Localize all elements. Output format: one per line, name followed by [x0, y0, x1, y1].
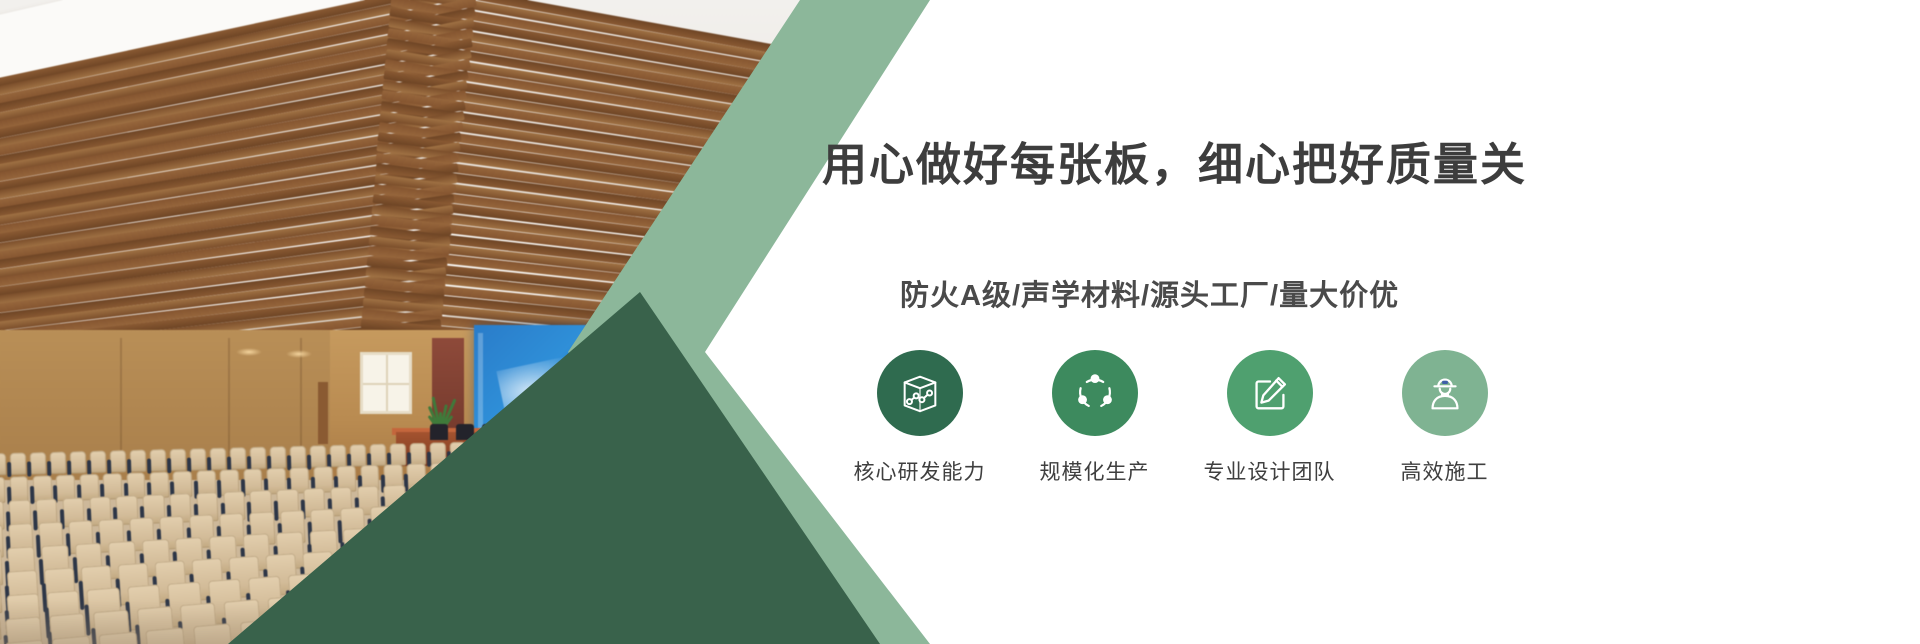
network-nodes-icon	[1072, 370, 1118, 416]
feature-item-core-rd[interactable]: 核心研发能力	[832, 350, 1007, 486]
feature-label: 专业设计团队	[1204, 456, 1336, 486]
feature-icon-circle	[1227, 350, 1313, 436]
feature-label: 核心研发能力	[854, 456, 986, 486]
feature-label: 规模化生产	[1040, 456, 1150, 486]
feature-label: 高效施工	[1401, 456, 1489, 486]
feature-item-design-team[interactable]: 专业设计团队	[1182, 350, 1357, 486]
feature-list: 核心研发能力 规模化生产	[832, 350, 1532, 530]
cube-research-icon	[897, 370, 943, 416]
feature-icon-circle	[1052, 350, 1138, 436]
feature-icon-circle	[877, 350, 963, 436]
worker-hardhat-icon	[1422, 370, 1468, 416]
feature-item-efficient-construction[interactable]: 高效施工	[1357, 350, 1532, 486]
banner-content: 用心做好每张板，细心把好质量关 防火A级/声学材料/源头工厂/量大价优	[822, 0, 1920, 644]
feature-icon-circle	[1402, 350, 1488, 436]
promo-banner: 用心做好每张板，细心把好质量关 防火A级/声学材料/源头工厂/量大价优	[0, 0, 1920, 644]
banner-headline: 用心做好每张板，细心把好质量关	[822, 128, 1882, 193]
pencil-edit-square-icon	[1247, 370, 1293, 416]
banner-subheadline: 防火A级/声学材料/源头工厂/量大价优	[900, 272, 1399, 314]
feature-item-scaled-production[interactable]: 规模化生产	[1007, 350, 1182, 486]
